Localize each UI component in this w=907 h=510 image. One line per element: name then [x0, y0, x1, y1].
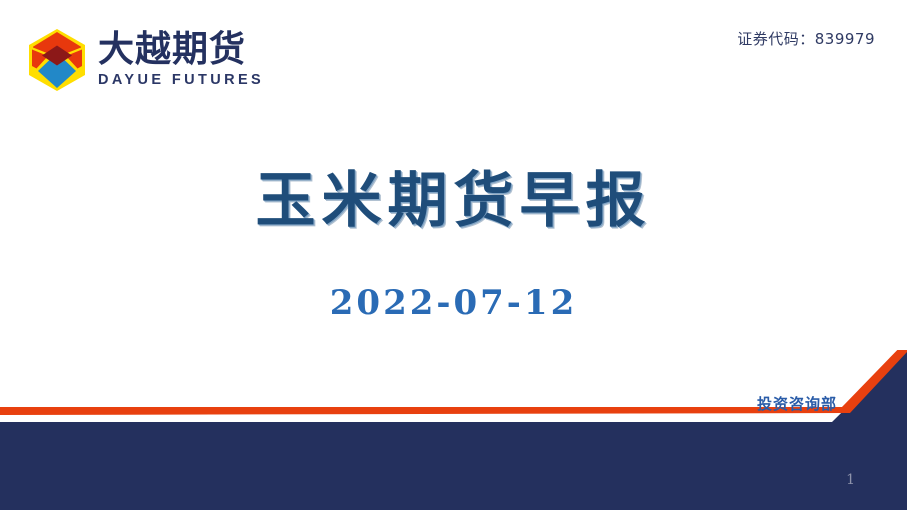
page-title: 玉米期货早报	[0, 152, 907, 239]
brand-name-cn: 大越期货	[98, 32, 264, 68]
report-date: 2022-07-12	[0, 283, 907, 323]
department-label: 投资咨询部	[757, 393, 837, 414]
security-code-label: 证券代码：839979	[737, 28, 875, 49]
brand-name-en: DAYUE FUTURES	[98, 73, 264, 88]
footer-banner-graphic	[0, 350, 907, 510]
banner-navy-shape	[0, 350, 907, 510]
brand-logo-block: 大越期货 DAYUE FUTURES	[28, 26, 264, 94]
brand-wordmark: 大越期货 DAYUE FUTURES	[98, 32, 264, 88]
page-number: 1	[846, 472, 855, 488]
dayue-hexagon-logo-icon	[28, 28, 86, 92]
slide-canvas: 大越期货 DAYUE FUTURES 证券代码：839979 玉米期货早报 20…	[0, 0, 907, 510]
